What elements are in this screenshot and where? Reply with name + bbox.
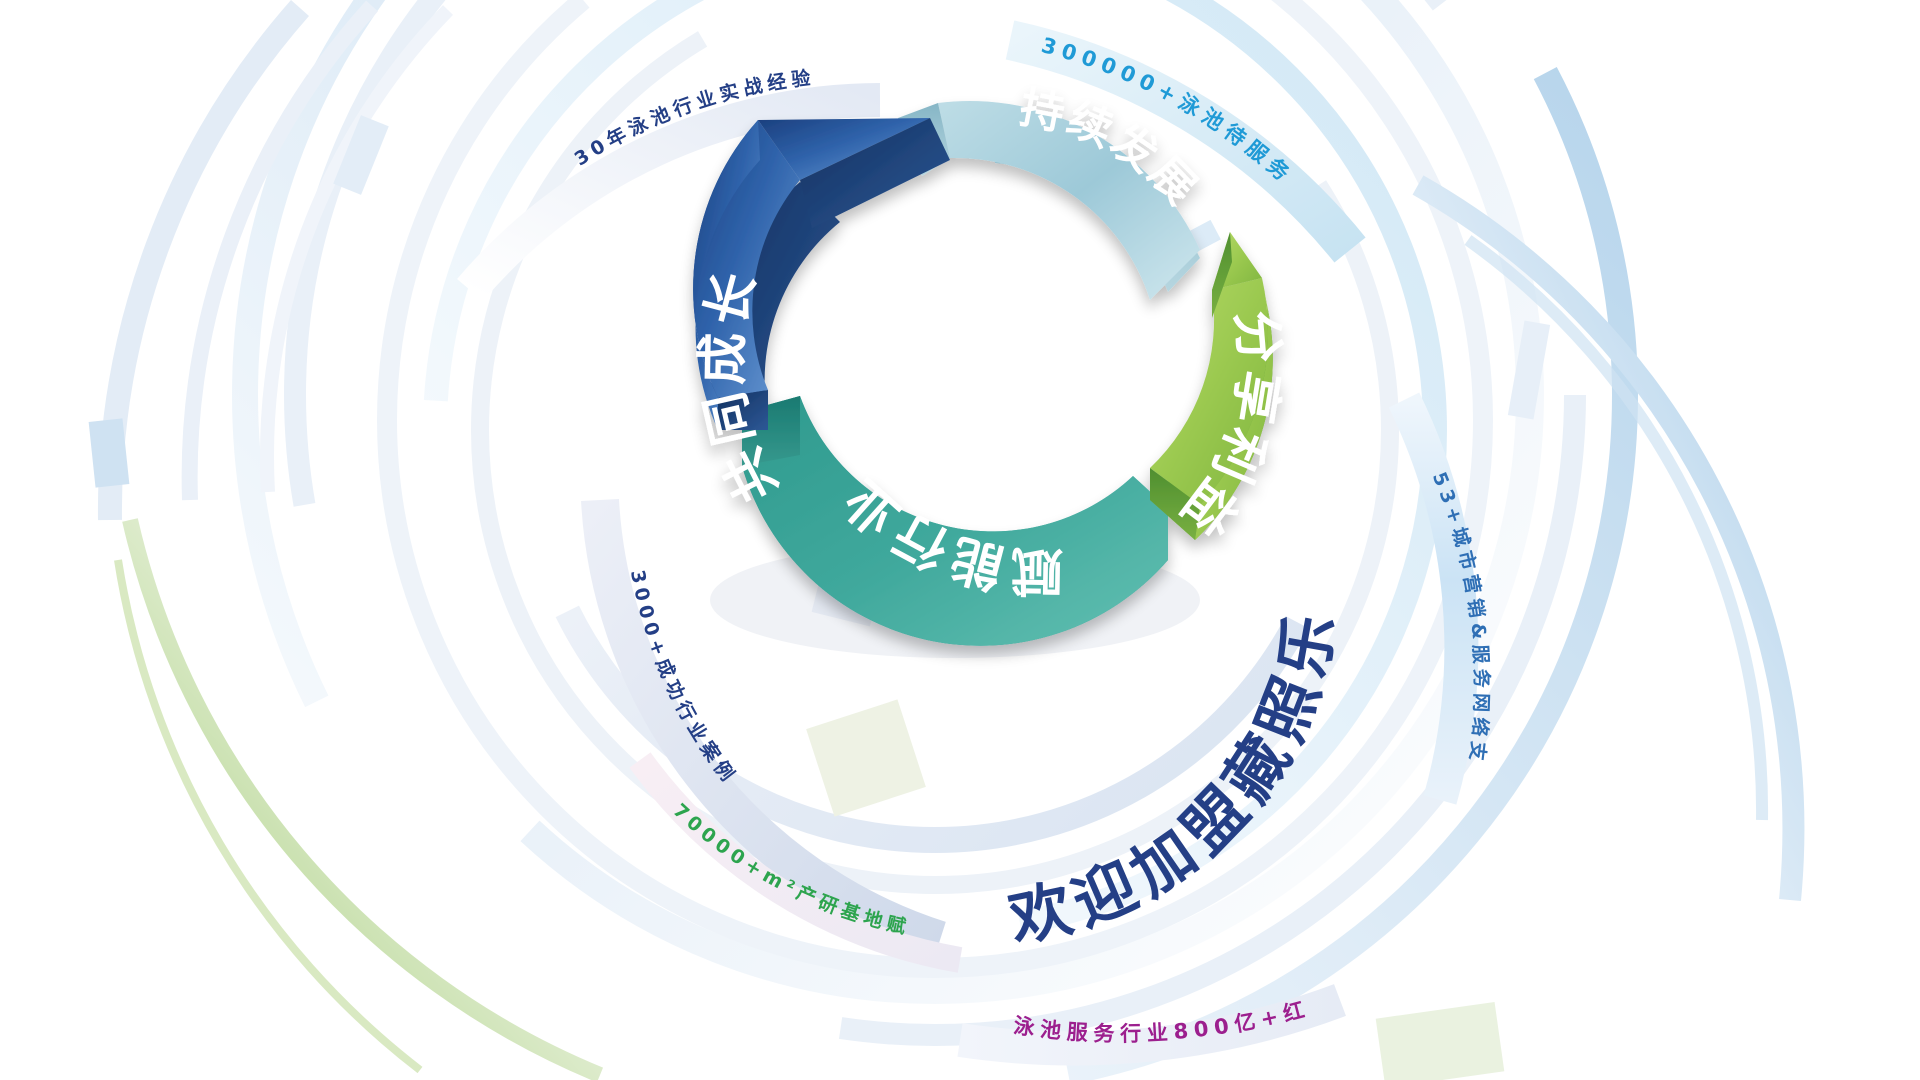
poster-canvas: 30年泳池行业实战经验 300000+泳池待服务 53+城市营销&服务网络支持 … <box>0 0 1920 1080</box>
page-title: 欢迎加盟藏照乐 <box>1002 600 1350 956</box>
headline-layer: 欢迎加盟藏照乐 <box>0 0 1920 1080</box>
